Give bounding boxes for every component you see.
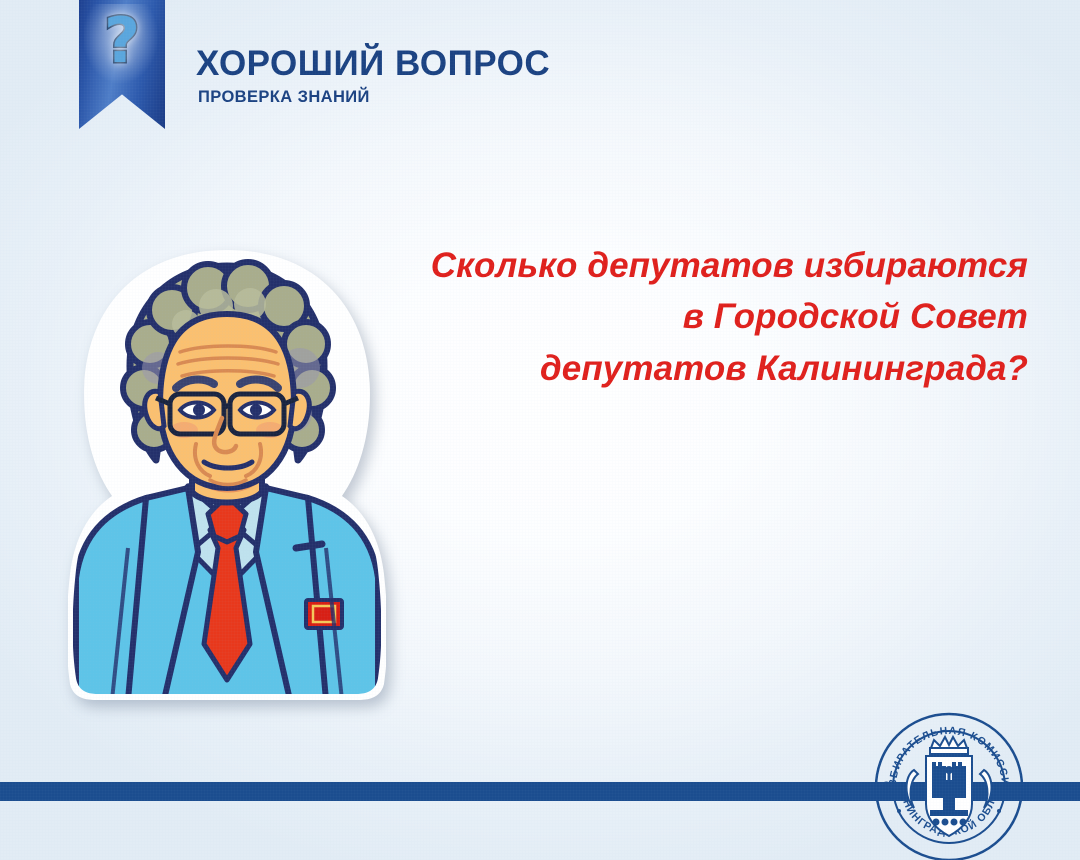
page-subtitle: ПРОВЕРКА ЗНАНИЙ (198, 89, 550, 106)
ear-right (290, 391, 309, 428)
question-line-2: в Городской Совет (348, 291, 1028, 342)
question-mark-glyph: ? (79, 10, 165, 72)
question-line-1: Сколько депутатов избираются (348, 240, 1028, 291)
header-text-block: ХОРОШИЙ ВОПРОС ПРОВЕРКА ЗНАНИЙ (196, 46, 550, 106)
poster-canvas: ? ХОРОШИЙ ВОПРОС ПРОВЕРКА ЗНАНИЙ Сколько… (0, 0, 1080, 860)
election-commission-seal: ИЗБИРАТЕЛЬНАЯ КОМИССИЯ КАЛИНИНГРАДСКОЙ О… (874, 712, 1024, 860)
page-title: ХОРОШИЙ ВОПРОС (196, 46, 550, 81)
face (160, 314, 294, 488)
castle-detail (930, 762, 968, 826)
elderly-man-sticker (68, 248, 386, 700)
question-mark-ribbon-icon: ? (79, 0, 165, 129)
question-text: Сколько депутатов избираются в Городской… (348, 240, 1028, 394)
pocket-slit (296, 544, 322, 548)
lapel-badge (306, 600, 342, 628)
header: ? ХОРОШИЙ ВОПРОС ПРОВЕРКА ЗНАНИЙ (0, 0, 1080, 150)
ear-left (145, 391, 164, 428)
question-line-3: депутатов Калининграда? (348, 343, 1028, 394)
